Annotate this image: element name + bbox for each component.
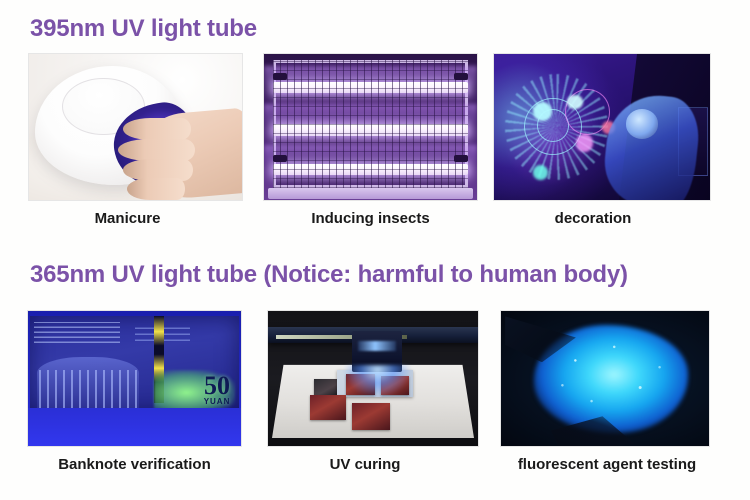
uv-lamp-strip [358,341,396,352]
insect-lamp-illustration [264,54,477,200]
banknote-denomination: 50 YUAN [204,374,231,405]
tube-bracket [273,155,288,162]
banknote-microtext [34,322,119,344]
uv-background-glow [28,408,241,446]
uv-curing-illustration [268,311,478,446]
caption-decoration: decoration [484,211,702,228]
caption-banknote-verification: Banknote verification [27,457,242,474]
electric-grid-horizontal [273,60,469,188]
blacklight-decoration-photo [493,53,711,201]
caption-fluorescent-agent-testing: fluorescent agent testing [502,457,712,474]
banknote-colonnade [39,370,137,408]
person-head [626,109,658,138]
caption-inducing-insects: Inducing insects [263,211,478,228]
printed-photo [352,403,390,430]
insect-killer-lamp-photo [263,53,478,201]
section-heading-395nm: 395nm UV light tube [30,17,257,41]
manicure-uv-lamp-photo [28,53,243,201]
fluorescent-illustration [501,311,709,446]
glow-dot [533,165,548,180]
section-heading-365nm: 365nm UV light tube (Notice: harmful to … [30,263,628,287]
banknote-illustration: 50 YUAN [28,311,241,446]
banknote-uv-photo: 50 YUAN [27,310,242,447]
tube-bracket [273,73,288,80]
decoration-illustration [494,54,710,200]
uv-curing-beam [344,365,411,397]
application-card-decoration[interactable]: decoration [493,53,711,228]
glow-dot [576,134,593,152]
denomination-value: 50 [204,371,230,400]
denomination-unit: YUAN [204,398,231,405]
caption-manicure: Manicure [20,211,235,228]
manicure-illustration [29,54,242,200]
caption-uv-curing: UV curing [259,457,471,474]
application-card-inducing-insects[interactable]: Inducing insects [263,53,478,228]
finger [123,118,191,140]
application-row-365nm: 50 YUAN Banknote verification [0,310,750,500]
uv-light-tube-applications-page: 395nm UV light tube Manicure [0,0,750,494]
printed-photo [310,395,346,421]
finger [127,178,185,200]
tube-bracket [454,155,469,162]
tube-bracket [454,73,469,80]
lamp-base [268,188,472,198]
application-card-manicure[interactable]: Manicure [28,53,243,228]
fluorescent-agent-photo [500,310,710,447]
glow-dot [567,95,582,110]
uv-curing-printer-photo [267,310,479,447]
application-card-uv-curing[interactable]: UV curing [267,310,479,474]
application-card-banknote-verification[interactable]: 50 YUAN Banknote verification [27,310,242,474]
finger [118,139,195,161]
application-card-fluorescent-agent-testing[interactable]: fluorescent agent testing [500,310,710,474]
printed-sheet [314,379,339,395]
application-row-395nm: Manicure [0,53,750,243]
